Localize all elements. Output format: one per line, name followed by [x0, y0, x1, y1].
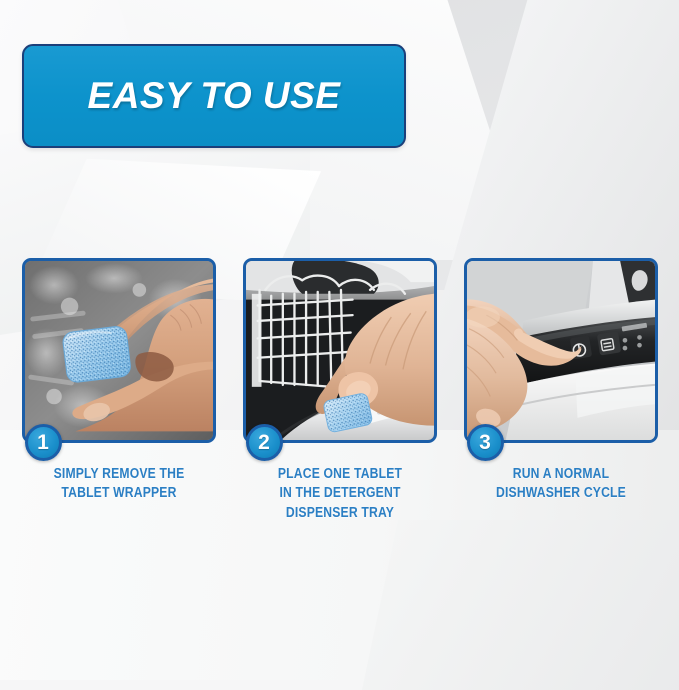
step-2-photo	[243, 258, 437, 443]
step-3-photo	[464, 258, 658, 443]
cycle-button	[596, 331, 620, 355]
step-1-number: 1	[37, 432, 49, 453]
easy-to-use-banner: EASY TO USE	[22, 44, 406, 148]
step-2-caption-line-1: PLACE ONE TABLET	[258, 465, 421, 484]
hand-placing-tablet-in-dispenser-illustration	[246, 261, 434, 440]
steps-row: 1 SIMPLY REMOVE THE TABLET WRAPPER	[0, 258, 679, 523]
background-facet-7	[362, 520, 679, 690]
step-2-caption: PLACE ONE TABLET IN THE DETERGENT DISPEN…	[258, 465, 421, 523]
finger-pressing-power-button-illustration	[467, 261, 655, 440]
step-2-caption-line-3: DISPENSER TRAY	[258, 504, 421, 523]
step-3: 3 RUN A NORMAL DISHWASHER CYCLE	[464, 258, 658, 523]
banner-title: EASY TO USE	[88, 75, 341, 117]
step-3-caption: RUN A NORMAL DISHWASHER CYCLE	[479, 465, 642, 504]
step-2-badge: 2	[246, 424, 283, 461]
step-3-caption-line-2: DISHWASHER CYCLE	[479, 484, 642, 503]
step-1-caption-line-2: TABLET WRAPPER	[37, 484, 200, 503]
step-3-badge: 3	[467, 424, 504, 461]
step-3-caption-line-1: RUN A NORMAL	[479, 465, 642, 484]
step-2: 2 PLACE ONE TABLET IN THE DETERGENT DISP…	[243, 258, 437, 523]
step-2-caption-line-2: IN THE DETERGENT	[258, 484, 421, 503]
blue-tablet	[61, 325, 131, 383]
step-3-number: 3	[479, 432, 491, 453]
step-1-caption-line-1: SIMPLY REMOVE THE	[37, 465, 200, 484]
step-2-number: 2	[258, 432, 270, 453]
step-1-photo	[22, 258, 216, 443]
step-1-caption: SIMPLY REMOVE THE TABLET WRAPPER	[37, 465, 200, 504]
step-1: 1 SIMPLY REMOVE THE TABLET WRAPPER	[22, 258, 216, 523]
hand-holding-blue-tablet-illustration	[25, 261, 213, 440]
step-1-badge: 1	[25, 424, 62, 461]
